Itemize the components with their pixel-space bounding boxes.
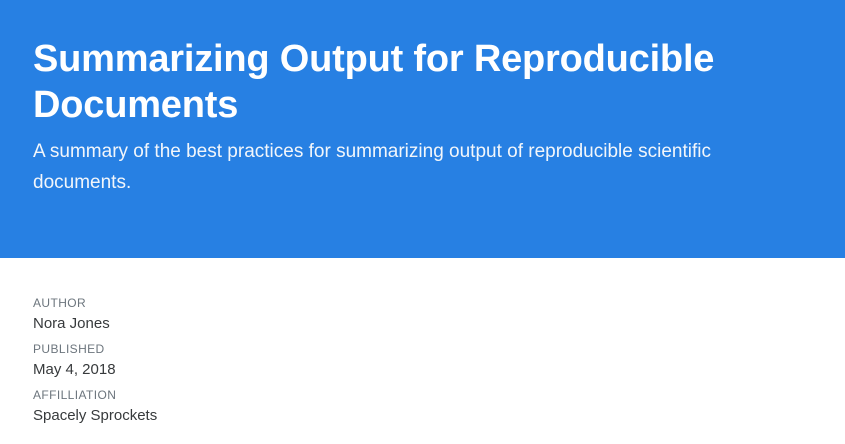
page-title: Summarizing Output for Reproducible Docu…: [33, 36, 733, 128]
document-metadata: AUTHOR Nora Jones PUBLISHED May 4, 2018 …: [0, 258, 845, 444]
metadata-column-right: AFFILLIATION Spacely Sprockets: [33, 386, 433, 432]
metadata-column-left: AUTHOR Nora Jones PUBLISHED May 4, 2018: [33, 294, 433, 386]
metadata-grid: AUTHOR Nora Jones PUBLISHED May 4, 2018 …: [33, 294, 812, 432]
title-banner-content: Summarizing Output for Reproducible Docu…: [33, 36, 812, 198]
document-page: Summarizing Output for Reproducible Docu…: [0, 0, 845, 444]
metadata-field-published: PUBLISHED May 4, 2018: [33, 340, 433, 381]
page-subtitle: A summary of the best practices for summ…: [33, 136, 798, 198]
title-banner: Summarizing Output for Reproducible Docu…: [0, 0, 845, 258]
metadata-label-published: PUBLISHED: [33, 340, 433, 358]
metadata-field-affiliation: AFFILLIATION Spacely Sprockets: [33, 386, 433, 427]
metadata-label-author: AUTHOR: [33, 294, 433, 312]
metadata-value-author: Nora Jones: [33, 313, 433, 335]
metadata-label-affiliation: AFFILLIATION: [33, 386, 433, 404]
metadata-value-published: May 4, 2018: [33, 359, 433, 381]
metadata-value-affiliation: Spacely Sprockets: [33, 405, 433, 427]
metadata-field-author: AUTHOR Nora Jones: [33, 294, 433, 335]
